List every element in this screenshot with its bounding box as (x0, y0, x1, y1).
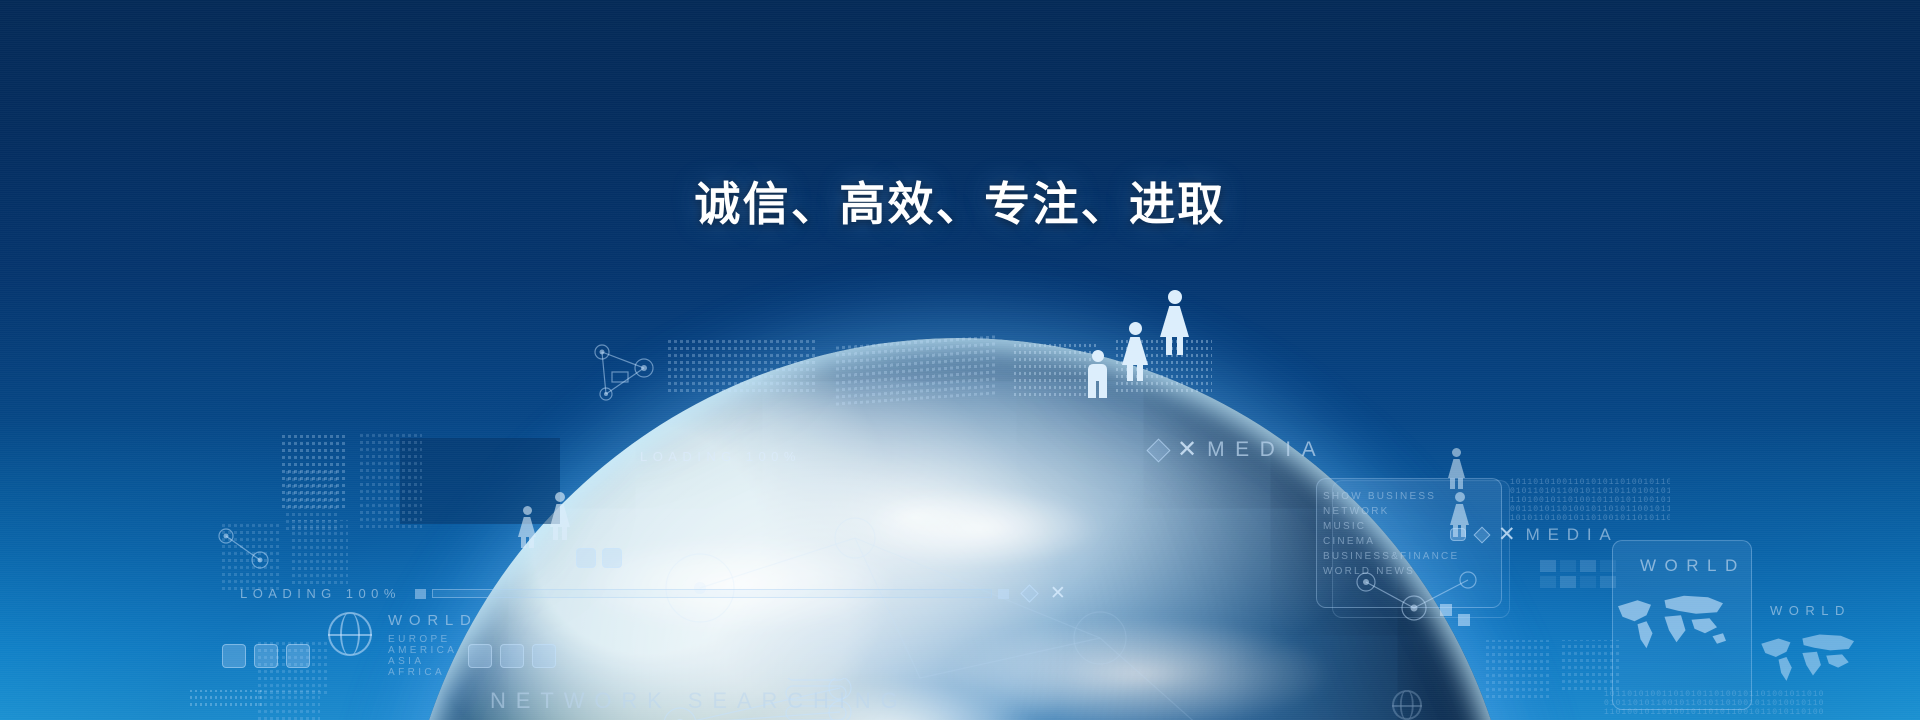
globe-wireframe-icon (328, 612, 372, 656)
binary-stream-bottom: 10110101001101010110100101101001011010 0… (1604, 690, 1904, 717)
binary-line: 01011010110010110101101001011010010110 (1510, 487, 1670, 496)
data-block-group-left-lower (222, 520, 348, 590)
data-block (282, 432, 346, 508)
hero-banner: 诚信、高效、专注、进取 (0, 0, 1920, 720)
page-title: 诚信、高效、专注、进取 (0, 168, 1920, 234)
earth-sphere (400, 338, 1520, 720)
binary-line: 11010010110100101101011001011010110100 (1510, 496, 1670, 505)
chat-bubble-icon (222, 644, 246, 668)
media-label: MEDIA (1526, 525, 1619, 545)
tile-grid-right (1540, 560, 1616, 588)
binary-line: 10101101001011010010110101100101101011 (1510, 514, 1670, 523)
data-block-group-lowleft (258, 640, 328, 694)
world-label-right-1: WORLD (1640, 556, 1746, 575)
binary-line: 10110101001101010110100101101001011010 (1604, 690, 1824, 699)
earth-surface-hud (400, 338, 1520, 720)
chat-bubble-icon (254, 644, 278, 668)
data-block (222, 520, 280, 590)
data-block (258, 690, 320, 720)
binary-line: 00110101101001011010110010110100101101 (1510, 505, 1670, 514)
data-block (258, 640, 328, 694)
world-map-dotted-right-1 (1612, 586, 1732, 652)
data-block (286, 470, 340, 530)
binary-stream-top: 10110101001101010110100101101001011010 0… (1510, 478, 1670, 523)
binary-line: 10110101001101010110100101101001011010 (1510, 478, 1670, 487)
node-diagram-icon (216, 526, 276, 574)
data-block-group-bottomleft (258, 690, 320, 720)
data-block (190, 690, 264, 706)
data-block (292, 520, 348, 584)
chat-icon-row-left (222, 644, 310, 668)
earth-globe (400, 338, 1520, 720)
loading-label-left: LOADING 100% (240, 586, 401, 601)
chat-bubble-icon (286, 644, 310, 668)
world-map-dotted-right-2 (1756, 626, 1862, 684)
data-block (1562, 640, 1622, 690)
binary-line: 01011010110010110101101001011010010110 (1604, 699, 1824, 708)
world-label-right-2: WORLD (1770, 603, 1851, 618)
binary-line: 11010010110100101101011001011010110100 (1604, 708, 1824, 717)
world-panel-1 (1612, 540, 1752, 710)
